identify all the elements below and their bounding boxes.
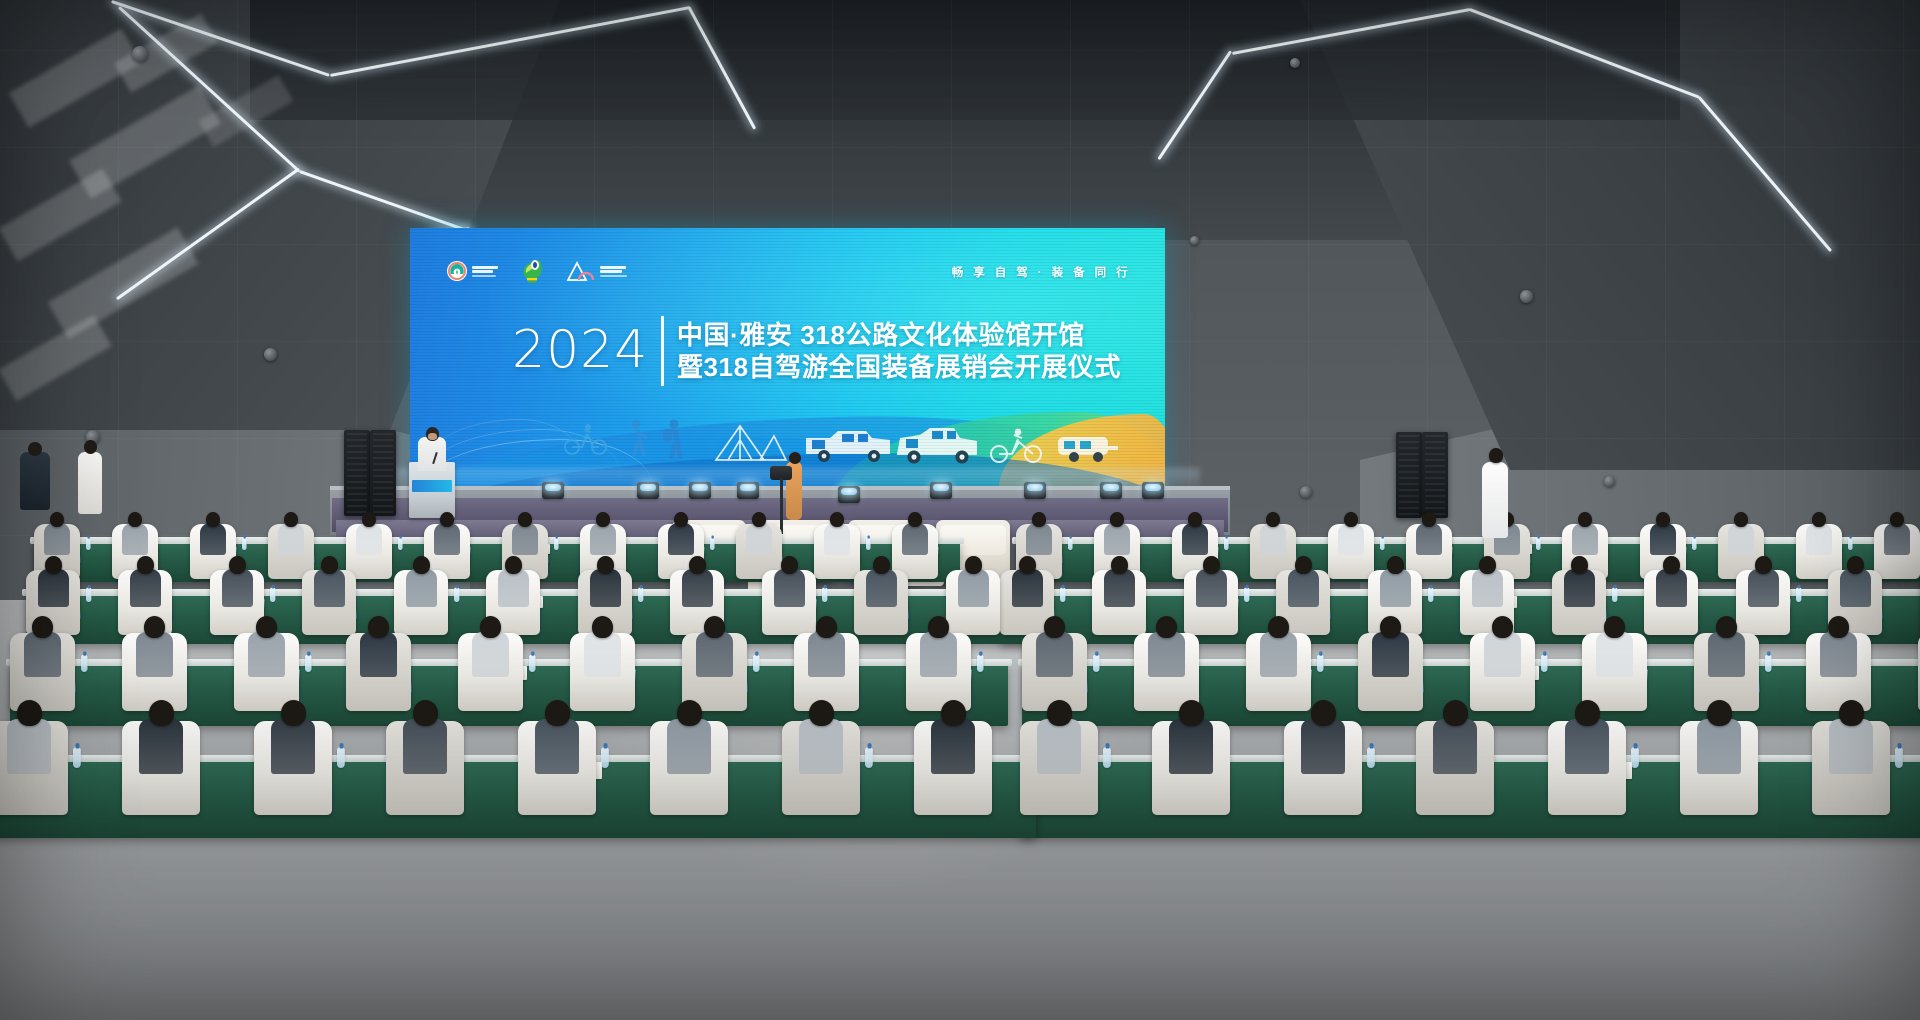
audience-head <box>1847 556 1864 574</box>
audience-body <box>799 719 843 774</box>
audience-head <box>1578 512 1592 527</box>
audience-body <box>406 569 437 607</box>
audience-head <box>1295 556 1312 574</box>
audience-body <box>1748 569 1779 607</box>
audience-head <box>1492 616 1513 638</box>
audience-body <box>24 632 61 677</box>
audience-head <box>1422 512 1436 527</box>
audience-head <box>545 700 570 726</box>
audience-head <box>1110 512 1124 527</box>
audience-body <box>1260 523 1286 555</box>
table-top-edge <box>1012 537 1920 544</box>
audience-body <box>1433 719 1477 774</box>
water-bottle <box>242 538 247 550</box>
water-bottle <box>1428 588 1433 602</box>
banner-tagline: 畅 享 自 驾 · 装 备 同 行 <box>952 264 1131 280</box>
hostess-head <box>84 440 97 454</box>
audience-head <box>1203 556 1220 574</box>
audience-head <box>1755 556 1772 574</box>
water-bottle <box>398 538 403 550</box>
audience-body <box>44 523 70 555</box>
water-bottle <box>86 538 91 550</box>
water-bottle <box>554 538 559 550</box>
audience-body <box>1806 523 1832 555</box>
audience-head <box>809 700 834 726</box>
water-bottle <box>1848 538 1853 550</box>
stage-par-light <box>637 482 659 499</box>
audience-head <box>1839 700 1864 726</box>
audience-body <box>1416 523 1442 555</box>
audience-head <box>413 700 438 726</box>
ceiling-fixture <box>264 348 277 361</box>
audience-head <box>1047 700 1072 726</box>
audience-body <box>1288 569 1319 607</box>
audience-body <box>535 719 579 774</box>
audience-head <box>128 512 142 527</box>
audience-head <box>928 616 949 638</box>
line-array-speaker <box>1396 432 1422 518</box>
audience-body <box>1104 523 1130 555</box>
audience-body <box>1260 632 1297 677</box>
water-bottle <box>1244 588 1249 602</box>
audience-head <box>873 556 890 574</box>
audience-body <box>222 569 253 607</box>
audience-head <box>941 700 966 726</box>
audience-body <box>271 719 315 774</box>
hostess-body <box>78 452 102 514</box>
audience-body <box>38 569 69 607</box>
ceiling-fixture <box>1290 58 1300 68</box>
ceiling-fixture <box>132 46 148 62</box>
audience-head <box>144 616 165 638</box>
audience-body <box>200 523 226 555</box>
audience-head <box>674 512 688 527</box>
audience-body <box>746 523 772 555</box>
audience-head <box>1387 556 1404 574</box>
water-bottle <box>1224 538 1229 550</box>
audience-head <box>321 556 338 574</box>
audience-head <box>677 700 702 726</box>
circle-teal-coral-icon <box>446 260 468 282</box>
videographer-head <box>789 452 801 464</box>
audience-head <box>1443 700 1468 726</box>
water-bottle <box>1541 655 1547 672</box>
water-bottle <box>1536 538 1541 550</box>
banner-title-line-2: 暨318自驾游全国装备展销会开展仪式 <box>677 353 1121 381</box>
audience-body <box>248 632 285 677</box>
line-array-speaker <box>1422 432 1448 518</box>
audience-body <box>139 719 183 774</box>
audience-head <box>1479 556 1496 574</box>
audience-body <box>584 632 621 677</box>
audience-head <box>440 512 454 527</box>
water-bottle <box>86 588 91 602</box>
audience-body <box>360 632 397 677</box>
audience-head <box>752 512 766 527</box>
audience-head <box>17 700 42 726</box>
stage-par-light <box>838 486 860 503</box>
water-bottle <box>601 747 609 768</box>
audience-body <box>920 632 957 677</box>
audience-head <box>1156 616 1177 638</box>
banner-title-block: 2024 中国·雅安 318公路文化体验馆开馆 暨318自驾游全国装备展销会开展… <box>512 316 1121 386</box>
audience-head <box>1179 700 1204 726</box>
ceiling-fixture <box>1190 236 1199 245</box>
audience-head <box>816 616 837 638</box>
audience-head <box>1575 700 1600 726</box>
audience-body <box>1036 632 1073 677</box>
water-bottle <box>638 588 643 602</box>
audience-body <box>696 632 733 677</box>
podium-branding-band <box>412 480 452 492</box>
sponsor-logo-row <box>446 258 627 284</box>
audience-body <box>1820 632 1857 677</box>
audience-head <box>830 512 844 527</box>
audience-body <box>902 523 928 555</box>
leaf-green-icon <box>520 258 544 284</box>
logo-sichuan-green-leaf <box>520 258 544 284</box>
speaker-person-body <box>418 437 446 471</box>
audience-head <box>1571 556 1588 574</box>
audience-head <box>1656 512 1670 527</box>
water-bottle <box>73 747 81 768</box>
audience-head <box>1344 512 1358 527</box>
audience-head <box>1716 616 1737 638</box>
water-bottle <box>1631 747 1639 768</box>
audience-body <box>472 632 509 677</box>
audience-body <box>931 719 975 774</box>
water-bottle <box>753 655 759 672</box>
water-bottle <box>337 747 345 768</box>
water-bottle <box>1068 538 1073 550</box>
audience-body <box>1037 719 1081 774</box>
water-bottle <box>977 655 983 672</box>
water-bottle <box>710 538 715 550</box>
hostess-dress <box>1482 462 1508 538</box>
audience-body <box>808 632 845 677</box>
water-bottle <box>1317 655 1323 672</box>
audience-body <box>866 569 897 607</box>
audience-head <box>505 556 522 574</box>
audience-head <box>1380 616 1401 638</box>
audience-head <box>1311 700 1336 726</box>
photographer-head <box>28 442 42 456</box>
audience-body <box>1026 523 1052 555</box>
audience-head <box>1604 616 1625 638</box>
audience-head <box>229 556 246 574</box>
ceiling-fixture <box>1520 290 1533 303</box>
audience-body <box>7 719 51 774</box>
audience-body <box>1169 719 1213 774</box>
audience-body <box>136 632 173 677</box>
audience-head <box>1266 512 1280 527</box>
audience-body <box>1196 569 1227 607</box>
audience-body <box>682 569 713 607</box>
water-bottle <box>529 655 535 672</box>
water-bottle <box>81 655 87 672</box>
audience-head <box>1032 512 1046 527</box>
water-bottle <box>865 747 873 768</box>
ceiling-fixture <box>1604 476 1615 487</box>
line-array-speaker <box>370 430 396 516</box>
audience-body <box>1182 523 1208 555</box>
water-bottle <box>1060 588 1065 602</box>
audience-body <box>1148 632 1185 677</box>
audience-body <box>590 569 621 607</box>
audience-body <box>1708 632 1745 677</box>
audience-head <box>596 512 610 527</box>
audience-head <box>256 616 277 638</box>
banner-year: 2024 <box>512 327 648 375</box>
logo-wordmark <box>472 266 498 277</box>
audience-head <box>781 556 798 574</box>
ceiling-fixture <box>1300 486 1312 498</box>
audience-head <box>592 616 613 638</box>
water-bottle <box>1765 655 1771 672</box>
audience-head <box>908 512 922 527</box>
audience-head <box>362 512 376 527</box>
audience-body <box>1697 719 1741 774</box>
audience-head <box>1019 556 1036 574</box>
audience-body <box>130 569 161 607</box>
logo-318-arch <box>566 261 627 281</box>
camera-tripod <box>780 478 783 534</box>
water-bottle <box>1367 747 1375 768</box>
audience-body <box>122 523 148 555</box>
mountain-arch-icon <box>566 261 596 281</box>
conference-hall-photo: 畅 享 自 驾 · 装 备 同 行 2024 中国·雅安 318公路文化体验馆开… <box>0 0 1920 1020</box>
audience-head <box>137 556 154 574</box>
audience-body <box>958 569 989 607</box>
audience-body <box>1372 632 1409 677</box>
audience-body <box>278 523 304 555</box>
audience-head <box>704 616 725 638</box>
audience-head <box>518 512 532 527</box>
photographer-body <box>20 452 50 510</box>
water-bottle <box>305 655 311 672</box>
banner-title-line-1: 中国·雅安 318公路文化体验馆开馆 <box>677 321 1121 349</box>
audience-body <box>667 719 711 774</box>
water-bottle <box>866 538 871 550</box>
stage-par-light <box>1142 482 1164 499</box>
hostess-head <box>1489 448 1503 463</box>
stage-par-light <box>930 482 952 499</box>
led-stage-screen: 畅 享 自 驾 · 装 备 同 行 2024 中国·雅安 318公路文化体验馆开… <box>410 228 1165 490</box>
water-bottle <box>1103 747 1111 768</box>
audience-head <box>281 700 306 726</box>
audience-body <box>1596 632 1633 677</box>
stage-par-light <box>1100 482 1122 499</box>
title-divider <box>661 316 664 386</box>
audience-head <box>368 616 389 638</box>
audience-body <box>774 569 805 607</box>
audience-head <box>1188 512 1202 527</box>
water-bottle <box>270 588 275 602</box>
audience-body <box>824 523 850 555</box>
water-bottle <box>1895 747 1903 768</box>
audience-head <box>1707 700 1732 726</box>
audience-head <box>597 556 614 574</box>
audience-head <box>50 512 64 527</box>
audience-head <box>1828 616 1849 638</box>
banner-title-lines: 中国·雅安 318公路文化体验馆开馆 暨318自驾游全国装备展销会开展仪式 <box>677 321 1121 381</box>
audience-head <box>149 700 174 726</box>
audience-body <box>668 523 694 555</box>
audience-head <box>32 616 53 638</box>
logo-wordmark <box>600 266 627 277</box>
audience-body <box>1484 632 1521 677</box>
water-bottle <box>822 588 827 602</box>
audience-body <box>1380 569 1411 607</box>
water-bottle <box>1380 538 1385 550</box>
audience-body <box>1840 569 1871 607</box>
logo-ya-an-tourism <box>446 260 498 282</box>
audience-body <box>1564 569 1595 607</box>
audience-body <box>1104 569 1135 607</box>
audience-body <box>1338 523 1364 555</box>
audience-body <box>1656 569 1687 607</box>
audience-body <box>1829 719 1873 774</box>
audience-head <box>689 556 706 574</box>
audience-body <box>512 523 538 555</box>
audience-head <box>1812 512 1826 527</box>
water-bottle <box>1796 588 1801 602</box>
audience-head <box>1890 512 1904 527</box>
water-bottle <box>1692 538 1697 550</box>
stage-par-light <box>542 482 564 499</box>
audience-body <box>1012 569 1043 607</box>
audience-head <box>965 556 982 574</box>
stage-par-light <box>1024 482 1046 499</box>
audience-body <box>1572 523 1598 555</box>
audience-head <box>1111 556 1128 574</box>
audience-body <box>498 569 529 607</box>
audience-body <box>1301 719 1345 774</box>
audience-head <box>413 556 430 574</box>
audience-body <box>1728 523 1754 555</box>
water-bottle <box>1612 588 1617 602</box>
audience-head <box>206 512 220 527</box>
audience-head <box>284 512 298 527</box>
audience-head <box>1663 556 1680 574</box>
audience-head <box>1268 616 1289 638</box>
speaker-person-face <box>428 433 437 440</box>
audience-body <box>1565 719 1609 774</box>
line-array-speaker <box>344 430 370 516</box>
stage-par-light <box>689 482 711 499</box>
water-bottle <box>1093 655 1099 672</box>
audience-head <box>1044 616 1065 638</box>
stage-par-light <box>737 482 759 499</box>
audience-body <box>434 523 460 555</box>
audience-body <box>1472 569 1503 607</box>
audience-body <box>403 719 447 774</box>
audience-body <box>314 569 345 607</box>
audience-head <box>480 616 501 638</box>
audience-body <box>1650 523 1676 555</box>
audience-head <box>45 556 62 574</box>
audience-body <box>1884 523 1910 555</box>
audience-body <box>590 523 616 555</box>
audience-head <box>1734 512 1748 527</box>
water-bottle <box>454 588 459 602</box>
audience-body <box>356 523 382 555</box>
